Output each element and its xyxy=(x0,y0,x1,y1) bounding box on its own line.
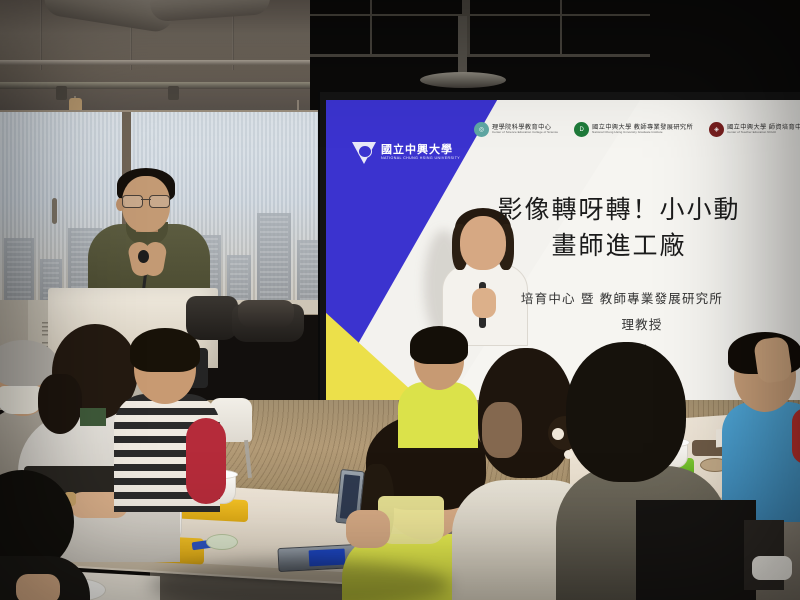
speaker xyxy=(86,168,212,298)
microphone xyxy=(138,250,149,263)
sleeve xyxy=(186,418,226,504)
partner-logo-row: ◎ 理學院科學教育中心 Center of Science Education … xyxy=(474,122,800,137)
ponytail xyxy=(38,374,82,434)
partner-name-en: Center of Teacher Education NCHU xyxy=(727,131,800,134)
shoe xyxy=(752,556,792,580)
photo-scene: 國立中興大學 NATIONAL CHUNG HSING UNIVERSITY ◎… xyxy=(0,0,800,600)
object-on-table xyxy=(206,534,238,550)
face xyxy=(482,402,522,458)
seal-icon: ◎ xyxy=(474,122,489,137)
hand xyxy=(753,336,793,384)
partner-name-en: Center of Science Education College of S… xyxy=(492,131,558,134)
partner-logo: ◈ 國立中興大學 師資培育中心 Center of Teacher Educat… xyxy=(709,122,800,137)
backpack xyxy=(238,300,294,328)
ceiling-duct-2 xyxy=(149,0,271,22)
hair xyxy=(130,328,200,372)
slide-title: 影像轉呀轉！小小動 畫師進工廠 xyxy=(444,192,794,263)
lamp-stem xyxy=(458,16,467,74)
collar xyxy=(80,408,106,426)
audience-member xyxy=(0,470,90,600)
glasses-icon xyxy=(122,195,170,206)
partner-logo: ◎ 理學院科學教育中心 Center of Science Education … xyxy=(474,122,558,137)
hand xyxy=(346,510,390,548)
seal-icon: ◈ xyxy=(709,122,724,137)
partner-logo: D 國立中興大學 教師專業發展研究所 National Chung Hsing … xyxy=(574,122,693,137)
nchu-logo: 國立中興大學 NATIONAL CHUNG HSING UNIVERSITY xyxy=(352,142,460,164)
partner-name-en: National Chung Hsing University Graduate… xyxy=(592,131,693,134)
audience-member xyxy=(104,330,222,520)
hand xyxy=(16,574,60,600)
slide-subtitle-line1: 培育中心 暨 教師專業發展研究所 xyxy=(436,286,800,312)
nchu-name-en: NATIONAL CHUNG HSING UNIVERSITY xyxy=(381,157,460,161)
seal-icon: D xyxy=(574,122,589,137)
nchu-triangle-icon xyxy=(352,142,376,164)
disc-lamp xyxy=(420,72,506,88)
slide-title-line1: 影像轉呀轉！小小動 xyxy=(444,192,794,228)
sleeve xyxy=(792,408,800,464)
slide-title-line2: 畫師進工廠 xyxy=(444,228,794,264)
seated-person-legs xyxy=(636,500,756,600)
